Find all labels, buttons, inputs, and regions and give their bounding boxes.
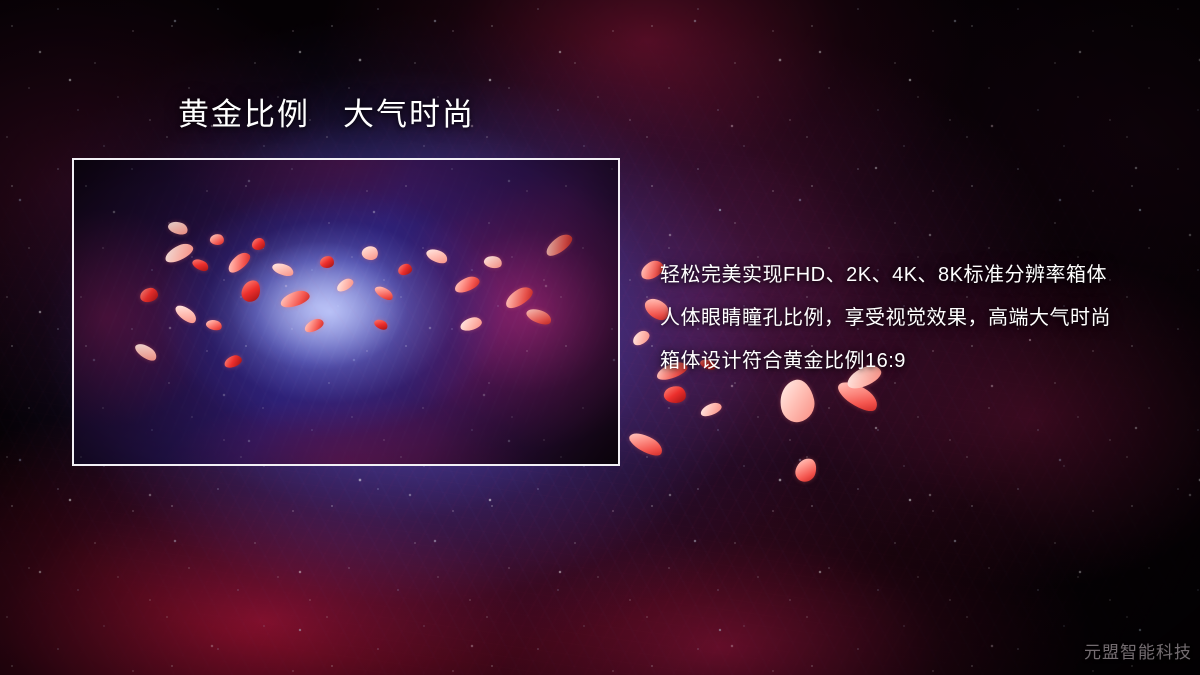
preview-image-frame: [72, 158, 620, 466]
preview-vignette: [74, 160, 618, 464]
body-text-block: 轻松完美实现FHD、2K、4K、8K标准分辨率箱体 人体眼睛瞳孔比例，享受视觉效…: [660, 254, 1180, 383]
page-title: 黄金比例 大气时尚: [178, 99, 475, 130]
body-line-2: 人体眼睛瞳孔比例，享受视觉效果，高端大气时尚: [660, 297, 1180, 340]
body-line-1: 轻松完美实现FHD、2K、4K、8K标准分辨率箱体: [660, 254, 1180, 297]
presentation-slide: 黄金比例 大气时尚 轻松完美实现FHD、2K、4K、8K标准分辨率箱体 人体眼睛…: [0, 0, 1200, 675]
body-line-3: 箱体设计符合黄金比例16:9: [660, 340, 1180, 383]
watermark: 元盟智能科技: [1084, 638, 1192, 663]
